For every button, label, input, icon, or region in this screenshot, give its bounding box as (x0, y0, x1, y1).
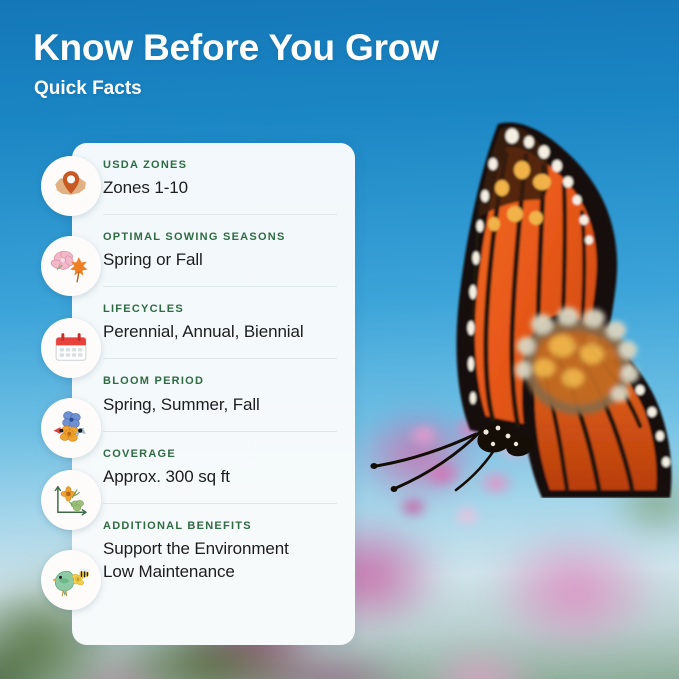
coverage-chart-icon (50, 479, 92, 521)
fact-row-lifecycles: LIFECYCLES Perennial, Annual, Biennial (103, 287, 337, 359)
quick-facts-card: USDA ZONES Zones 1-10 OPTIMAL SOWING SEA… (72, 143, 355, 645)
page-title: Know Before You Grow (33, 28, 439, 69)
blossom-maple-leaf-icon (50, 245, 92, 287)
monarch-butterfly-photo (330, 78, 679, 498)
header: Know Before You Grow Quick Facts (33, 28, 439, 100)
fact-value: Approx. 300 sq ft (103, 466, 337, 489)
calendar-icon (50, 327, 92, 369)
badge-additional-benefits (41, 550, 101, 610)
page-subtitle: Quick Facts (34, 79, 439, 100)
fact-value: Support the Environment (103, 538, 337, 561)
fact-row-optimal-sowing-seasons: OPTIMAL SOWING SEASONS Spring or Fall (103, 215, 337, 287)
bird-bee-icon (50, 559, 92, 601)
fact-value: Zones 1-10 (103, 177, 337, 200)
badge-coverage (41, 470, 101, 530)
badge-optimal-sowing-seasons (41, 236, 101, 296)
facts-list: USDA ZONES Zones 1-10 OPTIMAL SOWING SEA… (103, 143, 337, 645)
badge-usda-zones (41, 156, 101, 216)
fact-label: ADDITIONAL BENEFITS (103, 520, 337, 533)
fact-value: Spring or Fall (103, 249, 337, 272)
fact-row-additional-benefits: ADDITIONAL BENEFITS Support the Environm… (103, 504, 337, 598)
fact-row-bloom-period: BLOOM PERIOD Spring, Summer, Fall (103, 359, 337, 431)
badge-bloom-period (41, 398, 101, 458)
fact-label: LIFECYCLES (103, 303, 337, 316)
flower-bouquet-icon (50, 407, 92, 449)
usa-map-pin-icon (50, 165, 92, 207)
fact-row-coverage: COVERAGE Approx. 300 sq ft (103, 432, 337, 504)
fact-value-secondary: Low Maintenance (103, 561, 337, 584)
product-infographic: Know Before You Grow Quick Facts USDA ZO… (0, 0, 679, 679)
badge-lifecycles (41, 318, 101, 378)
fact-label: COVERAGE (103, 448, 337, 461)
fact-value: Spring, Summer, Fall (103, 394, 337, 417)
fact-label: USDA ZONES (103, 159, 337, 172)
fact-row-usda-zones: USDA ZONES Zones 1-10 (103, 143, 337, 215)
fact-label: BLOOM PERIOD (103, 375, 337, 388)
fact-label: OPTIMAL SOWING SEASONS (103, 231, 337, 244)
fact-value: Perennial, Annual, Biennial (103, 321, 337, 344)
